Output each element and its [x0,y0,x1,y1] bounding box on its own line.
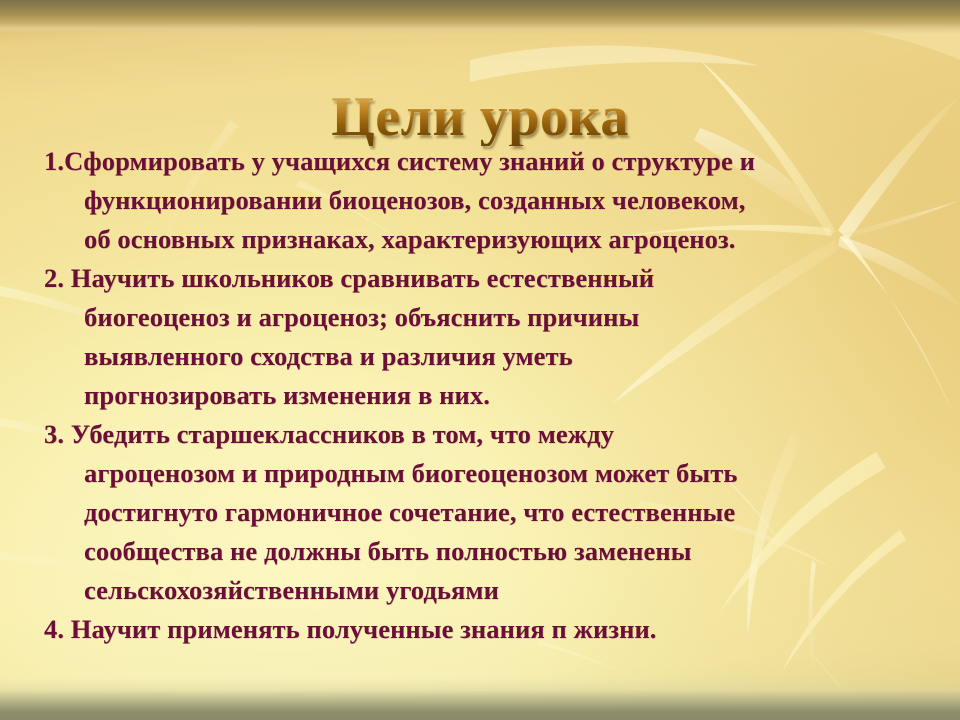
goal-item: 1.Сформировать у учащихся систему знаний… [44,142,924,259]
top-accent-band [0,0,960,34]
bottom-accent-band [0,678,960,720]
goal-item: 2. Научить школьников сравнивать естеств… [44,259,924,415]
goal-item: 3. Убедить старшеклассников в том, что м… [44,415,924,610]
goals-list: 1.Сформировать у учащихся систему знаний… [44,142,924,649]
slide-canvas: Цели урока 1.Сформировать у учащихся сис… [0,0,960,720]
goal-item: 4. Научит применять полученные знания п … [44,610,924,649]
